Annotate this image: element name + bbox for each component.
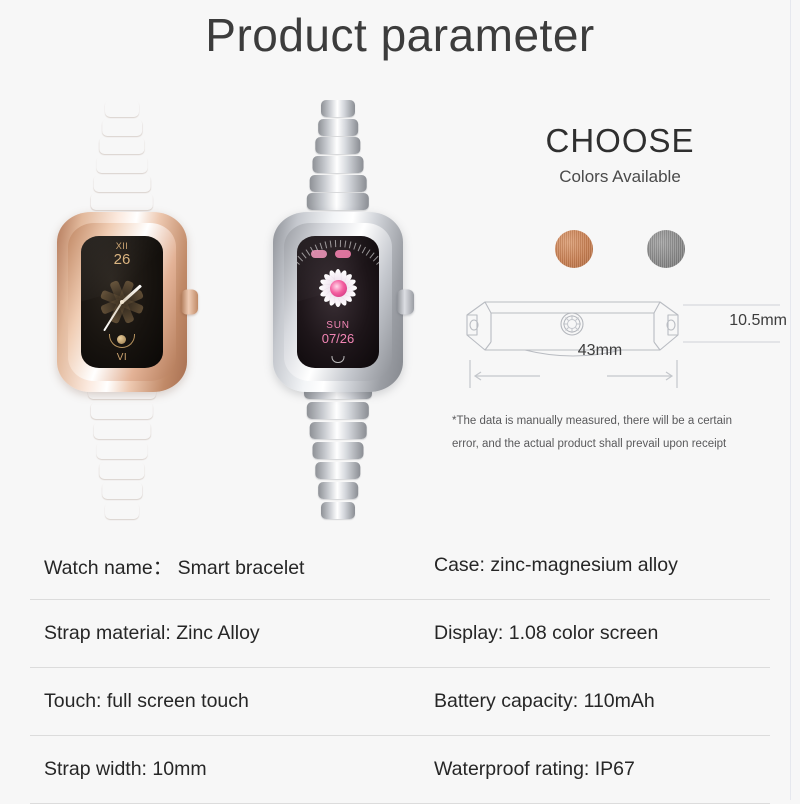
face-numeral-top: XII bbox=[81, 241, 163, 251]
bracelet-link bbox=[102, 119, 142, 136]
face-tick bbox=[320, 243, 323, 250]
bracelet-link bbox=[310, 422, 367, 439]
face-weekday: SUN bbox=[297, 320, 379, 331]
table-row: Strap material: Zinc Alloy Display: 1.08… bbox=[30, 600, 770, 668]
table-row: Strap width: 10mm Waterproof rating: IP6… bbox=[30, 736, 770, 804]
face-tick bbox=[373, 256, 379, 262]
face-tick bbox=[325, 241, 328, 248]
face-tick bbox=[358, 244, 362, 251]
dimension-height-label: 10.5mm bbox=[729, 312, 787, 330]
dimension-width-label: 43mm bbox=[515, 342, 685, 360]
bracelet-link bbox=[313, 442, 364, 459]
dimension-diagram: 10.5mm 43mm bbox=[455, 280, 790, 395]
face-tick bbox=[335, 240, 336, 247]
face-tick bbox=[349, 241, 352, 248]
bracelet-link bbox=[99, 462, 144, 479]
bracelet-link bbox=[105, 100, 139, 117]
watch-band-bottom bbox=[87, 382, 157, 520]
watch-screen-gold: XII 26 VI bbox=[81, 236, 163, 368]
flower-graphic bbox=[314, 264, 362, 312]
face-tick bbox=[340, 240, 341, 247]
disclaimer-line-2: error, and the actual product shall prev… bbox=[452, 433, 782, 456]
watch-crown[interactable] bbox=[397, 290, 414, 315]
watch-band-top bbox=[87, 100, 157, 230]
face-tick bbox=[366, 249, 371, 255]
choose-section: CHOOSE Colors Available bbox=[455, 120, 785, 187]
spec-watch-name: Watch name： Smart bracelet bbox=[30, 551, 420, 580]
watch-case: SUN 07/26 bbox=[273, 212, 403, 392]
spec-strap-width: Strap width: 10mm bbox=[30, 758, 420, 781]
bracelet-link bbox=[321, 100, 355, 117]
spec-table: Watch name： Smart bracelet Case: zinc-ma… bbox=[30, 532, 770, 804]
face-numeral-bottom: VI bbox=[81, 352, 163, 363]
disclaimer-line-1: *The data is manually measured, there wi… bbox=[452, 410, 782, 433]
measurement-disclaimer: *The data is manually measured, there wi… bbox=[452, 410, 782, 456]
rose-gold-watch[interactable]: XII 26 VI bbox=[22, 100, 222, 520]
bracelet-link bbox=[91, 402, 153, 419]
table-row: Touch: full screen touch Battery capacit… bbox=[30, 668, 770, 736]
flower-core bbox=[330, 280, 347, 297]
swatch-silver-gray[interactable] bbox=[647, 230, 685, 268]
watch-case: XII 26 VI bbox=[57, 212, 187, 392]
spec-waterproof-rating: Waterproof rating: IP67 bbox=[420, 758, 770, 781]
bracelet-link bbox=[307, 402, 369, 419]
crown-icon bbox=[561, 313, 583, 335]
status-badge-icon bbox=[311, 250, 327, 258]
face-date: 07/26 bbox=[297, 331, 379, 346]
bracelet-link bbox=[321, 502, 355, 519]
swatch-rose-gold[interactable] bbox=[555, 230, 593, 268]
device-side-view-drawing bbox=[455, 280, 790, 395]
face-tick bbox=[297, 260, 300, 265]
watch-screen-silver: SUN 07/26 bbox=[297, 236, 379, 368]
moon-phase-icon bbox=[109, 334, 135, 348]
bracelet-link bbox=[315, 137, 360, 154]
bracelet-link bbox=[97, 442, 148, 459]
bracelet-link bbox=[318, 119, 358, 136]
color-swatch-list bbox=[455, 230, 785, 268]
face-tick bbox=[369, 252, 374, 258]
spec-battery-capacity: Battery capacity: 110mAh bbox=[420, 690, 770, 713]
face-tick bbox=[301, 252, 306, 258]
bracelet-link bbox=[105, 502, 139, 519]
product-images: XII 26 VI bbox=[20, 100, 440, 520]
bracelet-link bbox=[97, 156, 148, 173]
face-date: 26 bbox=[81, 251, 163, 268]
bracelet-link bbox=[94, 175, 151, 192]
product-parameter-page: Product parameter XII 26 VI bbox=[0, 0, 800, 800]
bracelet-link bbox=[313, 156, 364, 173]
bracelet-link bbox=[315, 462, 360, 479]
watch-band-bottom bbox=[303, 382, 373, 520]
bracelet-link bbox=[318, 482, 358, 499]
face-tick bbox=[353, 243, 356, 250]
silver-watch[interactable]: SUN 07/26 bbox=[238, 100, 438, 520]
face-tick bbox=[362, 247, 366, 254]
bracelet-link bbox=[99, 137, 144, 154]
spec-touch: Touch: full screen touch bbox=[30, 690, 420, 713]
watch-crown[interactable] bbox=[181, 290, 198, 315]
page-title: Product parameter bbox=[0, 8, 800, 62]
hands-pivot bbox=[120, 300, 124, 304]
width-measure bbox=[470, 360, 677, 388]
spec-display: Display: 1.08 color screen bbox=[420, 622, 770, 645]
face-tick bbox=[376, 260, 379, 265]
right-edge-divider bbox=[790, 0, 791, 800]
watch-band-top bbox=[303, 100, 373, 230]
table-row: Watch name： Smart bracelet Case: zinc-ma… bbox=[30, 532, 770, 600]
face-tick bbox=[306, 249, 311, 255]
face-tick bbox=[298, 256, 304, 262]
bracelet-link bbox=[94, 422, 151, 439]
choose-subheading: Colors Available bbox=[455, 167, 785, 187]
bracelet-link bbox=[310, 175, 367, 192]
spec-strap-material: Strap material: Zinc Alloy bbox=[30, 622, 420, 645]
bracelet-link bbox=[91, 193, 153, 210]
face-tick bbox=[344, 240, 346, 247]
choose-heading: CHOOSE bbox=[455, 120, 785, 161]
face-tick bbox=[330, 240, 332, 247]
battery-badge-icon bbox=[335, 250, 351, 258]
bracelet-link bbox=[307, 193, 369, 210]
bracelet-link bbox=[102, 482, 142, 499]
spec-case: Case: zinc-magnesium alloy bbox=[420, 554, 770, 577]
